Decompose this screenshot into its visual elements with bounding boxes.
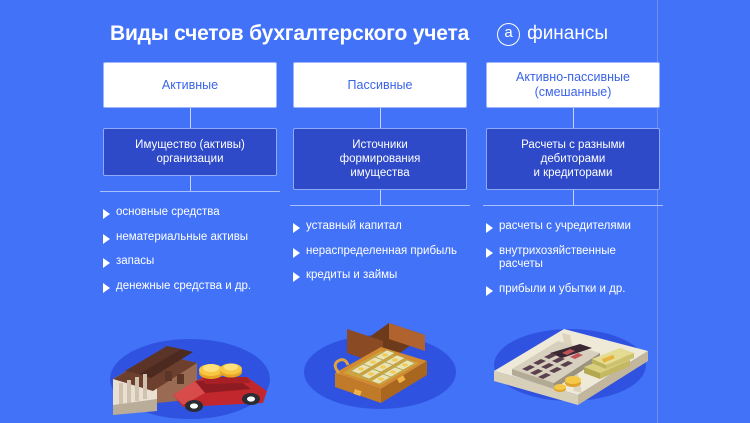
divider-line [290, 205, 470, 206]
column-header-card: Пассивные [293, 62, 467, 108]
column-header-card: Активно-пассивные (смешанные) [486, 62, 660, 108]
column-header-label: Активно-пассивные (смешанные) [516, 70, 630, 100]
infographic-root: Виды счетов бухгалтерского учета финансы… [0, 0, 750, 423]
column-subtitle-card: Расчеты с разными дебиторами и кредитора… [486, 128, 660, 190]
list-item-label: внутрихозяйственные расчеты [499, 245, 616, 272]
column-subtitle-label: Расчеты с разными дебиторами и кредитора… [521, 138, 625, 180]
divider-stub [380, 190, 381, 205]
building-car-icon [95, 321, 285, 421]
connector-line [190, 108, 191, 128]
column-divider [285, 190, 475, 220]
list-item: прибыли и убытки и др. [486, 283, 664, 297]
divider-stub [573, 190, 574, 205]
triangle-bullet-icon [293, 248, 300, 258]
column-header-label: Активные [162, 78, 218, 93]
triangle-bullet-icon [293, 272, 300, 282]
list-item-label: запасы [116, 255, 154, 269]
brand-label: финансы [497, 23, 608, 46]
calculator-money-icon [478, 315, 668, 409]
list-item: основные средства [103, 206, 281, 220]
list-item: расчеты с учредителями [486, 220, 664, 234]
column-active-passive: Активно-пассивные (смешанные) Расчеты с … [478, 62, 668, 307]
column-subtitle-label: Источники формирования имущества [340, 138, 421, 180]
column-subtitle-label: Имущество (активы) организации [135, 138, 245, 166]
briefcase-money-icon [285, 317, 475, 413]
list-item: кредиты и займы [293, 269, 471, 283]
header: Виды счетов бухгалтерского учета финансы [110, 18, 670, 50]
connector-line [380, 108, 381, 128]
divider-line [483, 205, 663, 206]
list-item: нематериальные активы [103, 231, 281, 245]
list-item: денежные средства и др. [103, 280, 281, 294]
list-item-label: расчеты с учредителями [499, 220, 631, 234]
list-item: уставный капитал [293, 220, 471, 234]
triangle-bullet-icon [103, 283, 110, 293]
triangle-bullet-icon [486, 223, 493, 233]
column-passive: Пассивные Источники формирования имущест… [285, 62, 475, 294]
at-circle-icon [497, 23, 520, 46]
list-item: запасы [103, 255, 281, 269]
list-item-label: нераспределенная прибыль [306, 245, 457, 259]
list-item-label: нематериальные активы [116, 231, 248, 245]
bullet-list: расчеты с учредителями внутрихозяйственн… [478, 220, 668, 296]
list-item: нераспределенная прибыль [293, 245, 471, 259]
connector-line [573, 108, 574, 128]
triangle-bullet-icon [293, 223, 300, 233]
divider-stub [190, 176, 191, 191]
illustration-building-and-car-with-coins [95, 321, 285, 421]
column-divider [95, 176, 285, 206]
illustration-calculator-with-money-on-ledger [478, 315, 668, 415]
bullet-list: основные средства нематериальные активы … [95, 206, 285, 293]
list-item: внутрихозяйственные расчеты [486, 245, 664, 272]
divider-line [100, 191, 280, 192]
triangle-bullet-icon [486, 286, 493, 296]
column-active: Активные Имущество (активы) организации … [95, 62, 285, 304]
illustration-briefcase-full-of-money [285, 317, 475, 417]
list-item-label: денежные средства и др. [116, 280, 251, 294]
column-subtitle-card: Имущество (активы) организации [103, 128, 277, 176]
list-item-label: кредиты и займы [306, 269, 397, 283]
column-header-card: Активные [103, 62, 277, 108]
column-subtitle-card: Источники формирования имущества [293, 128, 467, 190]
list-item-label: уставный капитал [306, 220, 402, 234]
triangle-bullet-icon [103, 234, 110, 244]
column-header-label: Пассивные [348, 78, 413, 93]
triangle-bullet-icon [486, 248, 493, 258]
brand-name: финансы [527, 23, 608, 45]
bullet-list: уставный капитал нераспределенная прибыл… [285, 220, 475, 283]
list-item-label: основные средства [116, 206, 220, 220]
triangle-bullet-icon [103, 209, 110, 219]
page-title: Виды счетов бухгалтерского учета [110, 22, 469, 46]
triangle-bullet-icon [103, 258, 110, 268]
list-item-label: прибыли и убытки и др. [499, 283, 625, 297]
column-divider [478, 190, 668, 220]
